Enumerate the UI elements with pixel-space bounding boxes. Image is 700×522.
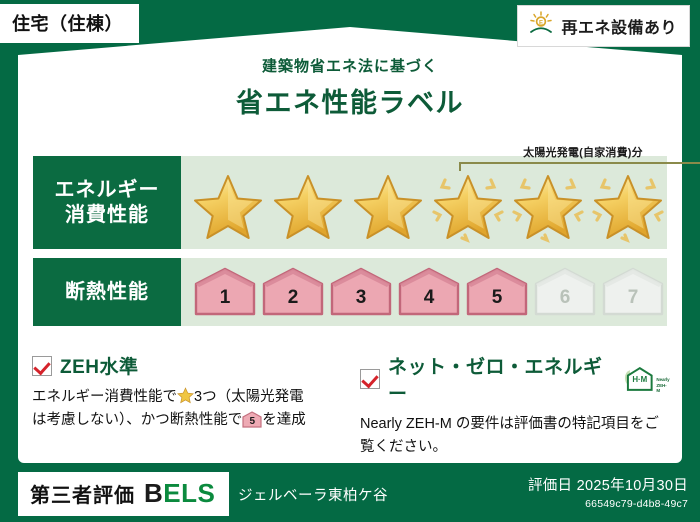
net-zero-energy-body: Nearly ZEH-M の要件は評価書の特記項目をご覧ください。 <box>360 413 670 460</box>
insulation-performance-body: 1 2 3 4 5 6 7 <box>181 258 667 326</box>
label-subtitle: 建築物省エネ法に基づく <box>0 55 700 76</box>
inline-star-icon <box>177 387 194 404</box>
zeh-standard-title: ZEH水準 <box>60 352 139 379</box>
energy-performance-label: エネルギー 消費性能 <box>33 156 181 249</box>
star-rating <box>181 168 667 244</box>
insulation-level-number-2: 2 <box>261 287 325 309</box>
building-type-label: 住宅（住棟） <box>12 14 123 34</box>
energy-label-line1: エネルギー <box>55 178 160 203</box>
insulation-level-7: 7 <box>601 267 665 317</box>
evaluation-info: 評価日 2025年10月30日 66549c79-d4b8-49c7 <box>528 474 688 510</box>
zeh-text-part3: は考慮しない）、かつ断熱性能で <box>32 412 242 428</box>
building-name: ジェルベーラ東柏ケ谷 <box>238 484 388 505</box>
renewable-equipment-badge: E 再エネ設備あり <box>517 5 690 47</box>
net-zero-energy-section: ネット・ゼロ・エネルギー H·M NearlyZEH-M Nearly ZEH-… <box>360 352 670 460</box>
evaluation-id: 66549c79-d4b8-49c7 <box>528 498 688 510</box>
star-6 <box>589 168 667 244</box>
solar-bracket <box>459 162 700 171</box>
insulation-level-number-1: 1 <box>193 287 257 309</box>
label-title: 省エネ性能ラベル <box>0 81 700 120</box>
insulation-level-number-5: 5 <box>465 287 529 309</box>
zeh-standard-header: ZEH水準 <box>32 352 342 379</box>
insulation-level-1: 1 <box>193 267 257 317</box>
insulation-label-line1: 断熱性能 <box>65 280 149 305</box>
zeh-m-house-icon: H·M <box>621 365 655 393</box>
star-4 <box>429 168 507 244</box>
bels-certification-box: 第三者評価 BELS <box>18 472 229 516</box>
building-type-tag: 住宅（住棟） <box>0 4 139 43</box>
solar-generation-annotation: 太陽光発電(自家消費)分 <box>459 144 700 171</box>
insulation-level-scale: 1 2 3 4 5 6 7 <box>181 267 665 317</box>
net-zero-energy-header: ネット・ゼロ・エネルギー H·M NearlyZEH-M <box>360 352 670 406</box>
zeh-standard-section: ZEH水準 エネルギー消費性能で 3つ（太陽光発電 は考慮しない）、かつ断熱性能… <box>32 352 342 433</box>
check-icon <box>32 356 52 376</box>
star-5 <box>509 168 587 244</box>
sun-icon: E <box>528 11 554 40</box>
zeh-m-logo-text: H·M <box>632 375 647 384</box>
evaluation-date: 評価日 2025年10月30日 <box>528 474 688 495</box>
insulation-level-number-7: 7 <box>601 287 665 309</box>
solar-generation-caption: 太陽光発電(自家消費)分 <box>459 144 700 160</box>
renewable-equipment-label: 再エネ設備あり <box>561 14 677 38</box>
insulation-performance-label: 断熱性能 <box>33 258 181 326</box>
zeh-text-part4: を達成 <box>262 412 306 428</box>
zeh-standard-body: エネルギー消費性能で 3つ（太陽光発電 は考慮しない）、かつ断熱性能で 5 を達… <box>32 386 342 433</box>
net-zero-energy-title: ネット・ゼロ・エネルギー <box>388 352 609 406</box>
check-icon <box>360 369 380 389</box>
insulation-level-5: 5 <box>465 267 529 317</box>
zeh-m-logo: H·M NearlyZEH-M <box>621 365 670 393</box>
insulation-level-number-3: 3 <box>329 287 393 309</box>
energy-performance-body: 太陽光発電(自家消費)分 <box>181 156 667 249</box>
insulation-level-number-6: 6 <box>533 287 597 309</box>
insulation-level-6: 6 <box>533 267 597 317</box>
star-3 <box>349 168 427 244</box>
star-2 <box>269 168 347 244</box>
insulation-level-number-4: 4 <box>397 287 461 309</box>
third-party-label: 第三者評価 <box>30 479 135 508</box>
inline-house-number: 5 <box>242 414 262 430</box>
zeh-m-logo-subtext: NearlyZEH-M <box>656 377 670 393</box>
insulation-performance-row: 断熱性能 1 2 3 4 5 6 7 <box>33 258 667 326</box>
bels-logo: BELS <box>144 478 215 509</box>
star-1 <box>189 168 267 244</box>
zeh-text-part1: エネルギー消費性能で <box>32 389 177 405</box>
svg-text:E: E <box>539 20 543 26</box>
insulation-level-2: 2 <box>261 267 325 317</box>
label-title-block: 建築物省エネ法に基づく 省エネ性能ラベル <box>0 55 700 120</box>
insulation-level-4: 4 <box>397 267 461 317</box>
energy-performance-row: エネルギー 消費性能 太陽光発電(自家消費)分 <box>33 156 667 249</box>
inline-house-icon: 5 <box>242 411 262 428</box>
insulation-level-3: 3 <box>329 267 393 317</box>
energy-label-line2: 消費性能 <box>65 203 149 228</box>
zeh-text-part2: 3つ（太陽光発電 <box>194 389 304 405</box>
footer: 第三者評価 BELS ジェルベーラ東柏ケ谷 評価日 2025年10月30日 66… <box>0 464 700 522</box>
